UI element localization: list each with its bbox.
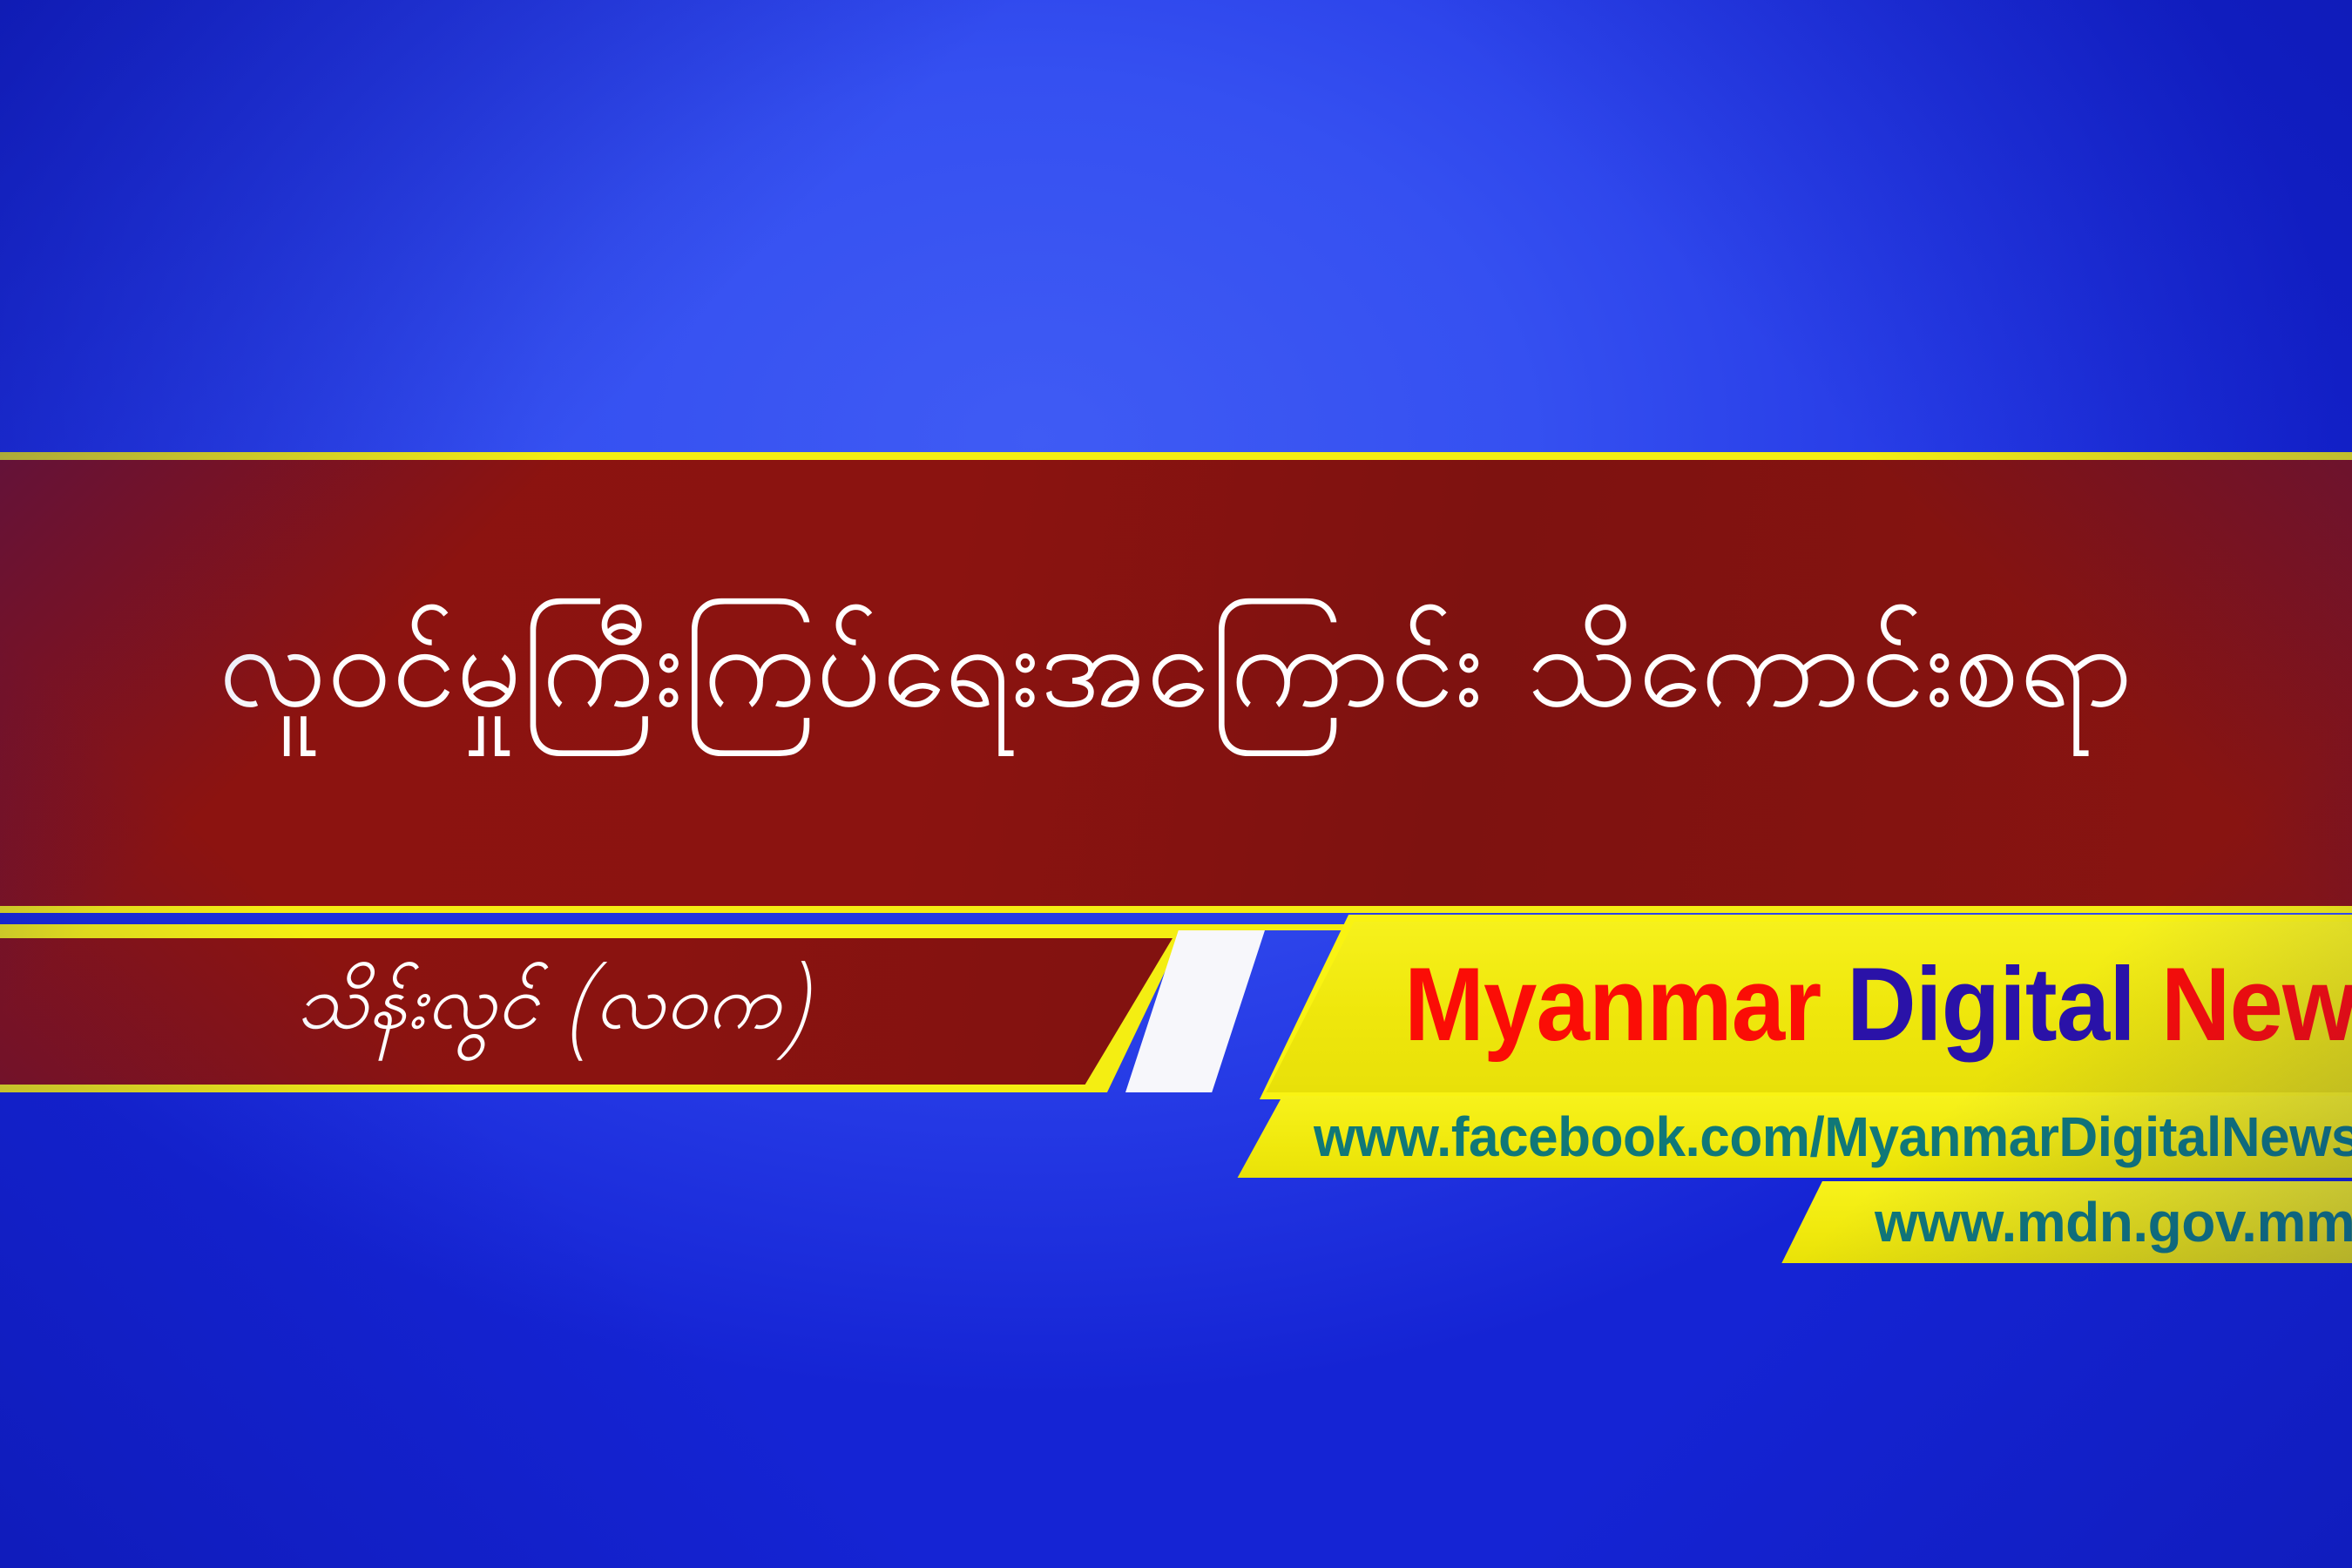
brand-banner: Myanmar Digital News (1230, 922, 2352, 1092)
author-band: သိန်းလွင် (လဝက) (0, 930, 1185, 1092)
brand-logo-text: Myanmar Digital News (1404, 944, 2352, 1064)
slide-title: လူဝင်မှုကြီးကြပ်ရေးအကြောင်း သိကောင်းစရာ (219, 611, 2133, 755)
brand-word-myanmar: Myanmar (1404, 946, 1821, 1063)
website-url-banner[interactable]: www.mdn.gov.mm (1779, 1181, 2352, 1263)
slide-canvas: လူဝင်မှုကြီးကြပ်ရေးအကြောင်း သိကောင်းစရာ … (0, 0, 2352, 1568)
facebook-url-text[interactable]: www.facebook.com/MyanmarDigitalNews/ (1314, 1105, 2352, 1169)
author-byline: သိန်းလွင် (လဝက) (296, 954, 809, 1064)
divider-yellow-top (0, 906, 2352, 913)
title-band: လူဝင်မှုကြီးကြပ်ရေးအကြောင်း သိကောင်းစရာ (0, 452, 2352, 906)
facebook-url-banner[interactable]: www.facebook.com/MyanmarDigitalNews/ (1235, 1096, 2352, 1178)
author-band-fill: သိန်းလွင် (လဝက) (0, 938, 1173, 1085)
brand-word-news: News (2161, 946, 2352, 1063)
brand-word-digital: Digital (1847, 946, 2135, 1063)
website-url-text[interactable]: www.mdn.gov.mm (1875, 1190, 2352, 1254)
